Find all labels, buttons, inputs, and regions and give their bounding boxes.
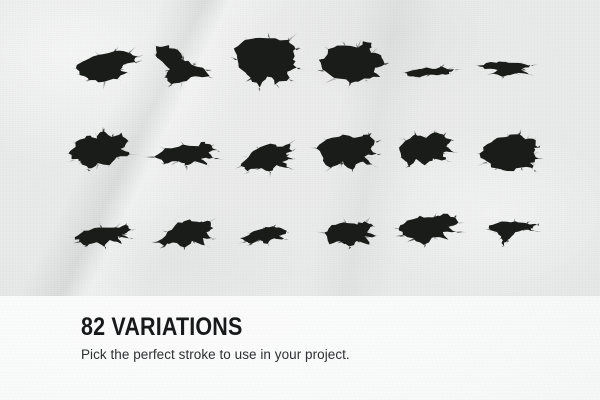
brush-stroke-pointed-claw-wedge	[238, 139, 297, 176]
brush-stroke-arrow-notch-flick	[476, 58, 532, 85]
brush-stroke-spiked-delta-wedge	[156, 215, 215, 252]
brush-stroke-broad-flat-sweep	[73, 46, 141, 89]
page-subtitle: Pick the perfect stroke to use in your p…	[81, 346, 350, 363]
brush-stroke-tapered-hook-flick	[486, 218, 539, 249]
brush-stroke-double-wing-sweep	[395, 211, 460, 253]
brush-stroke-talon-rake-stroke	[316, 131, 379, 174]
caption-band: 82 VARIATIONS Pick the perfect stroke to…	[0, 296, 600, 400]
brush-stroke-small-point-wedge	[240, 224, 288, 251]
brush-pack-promo-card: 82 VARIATIONS Pick the perfect stroke to…	[0, 0, 600, 400]
brush-stroke-round-blot-cluster	[316, 39, 387, 88]
brush-stroke-grid	[0, 0, 600, 296]
brush-stroke-notched-block-wedge	[321, 217, 376, 253]
stroke-showcase-paper	[0, 0, 600, 296]
page-title: 82 VARIATIONS	[81, 314, 312, 340]
brush-stroke-angular-fork-wedge	[151, 137, 218, 173]
brush-stroke-wispy-drag-wedge	[151, 43, 211, 89]
brush-stroke-thin-dash-flick	[404, 61, 457, 85]
brush-stroke-spatter-crown-blot	[395, 129, 454, 173]
caption-text-block: 82 VARIATIONS Pick the perfect stroke to…	[81, 314, 350, 363]
brush-stroke-low-triangle-rake	[73, 221, 132, 253]
brush-stroke-bristle-scatter-burst	[67, 126, 134, 174]
brush-stroke-dense-hairy-mass	[477, 131, 540, 177]
brush-stroke-heavy-block-comb	[232, 35, 299, 92]
